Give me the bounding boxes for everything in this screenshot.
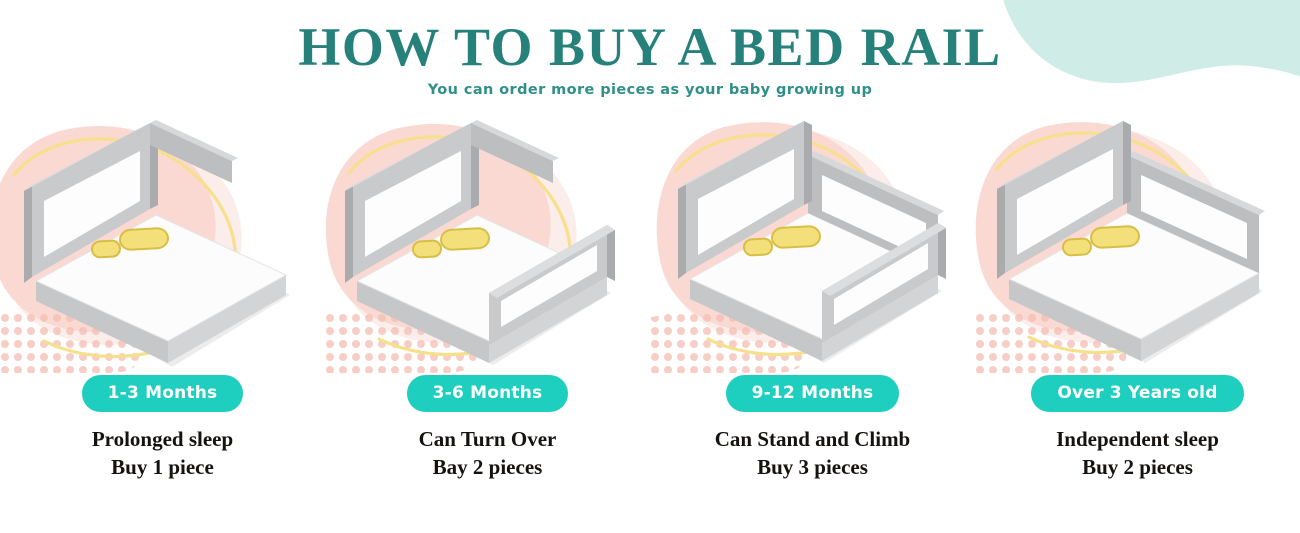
caption-line-2: Buy 2 pieces bbox=[1056, 454, 1219, 482]
illustration-bed-rail-2-side-pieces bbox=[975, 105, 1300, 373]
caption-line-2: Bay 2 pieces bbox=[419, 454, 557, 482]
caption-line-1: Independent sleep bbox=[1056, 427, 1219, 451]
card-caption: Can Stand and Climb Buy 3 pieces bbox=[715, 426, 911, 481]
card-1-3-months[interactable]: 1-3 Months Prolonged sleep Buy 1 piece bbox=[0, 105, 325, 505]
card-caption: Can Turn Over Bay 2 pieces bbox=[419, 426, 557, 481]
caption-line-1: Can Stand and Climb bbox=[715, 427, 911, 451]
caption-line-1: Can Turn Over bbox=[419, 427, 557, 451]
illustration-bed-rail-3-pieces bbox=[650, 105, 975, 373]
cards-row: 1-3 Months Prolonged sleep Buy 1 piece bbox=[0, 105, 1300, 505]
illustration-bed-rail-1-piece bbox=[0, 105, 325, 373]
caption-line-2: Buy 3 pieces bbox=[715, 454, 911, 482]
badge-age-range[interactable]: 3-6 Months bbox=[407, 375, 569, 412]
badge-age-range[interactable]: Over 3 Years old bbox=[1031, 375, 1243, 412]
card-3-6-months[interactable]: 3-6 Months Can Turn Over Bay 2 pieces bbox=[325, 105, 650, 505]
page-title: HOW TO BUY A BED RAIL bbox=[0, 0, 1300, 74]
infographic-canvas: HOW TO BUY A BED RAIL You can order more… bbox=[0, 0, 1300, 533]
caption-line-2: Buy 1 piece bbox=[92, 454, 233, 482]
page-subtitle: You can order more pieces as your baby g… bbox=[0, 74, 1300, 98]
page-header: HOW TO BUY A BED RAIL You can order more… bbox=[0, 0, 1300, 98]
card-9-12-months[interactable]: 9-12 Months Can Stand and Climb Buy 3 pi… bbox=[650, 105, 975, 505]
card-over-3-years-old[interactable]: Over 3 Years old Independent sleep Buy 2… bbox=[975, 105, 1300, 505]
card-caption: Prolonged sleep Buy 1 piece bbox=[92, 426, 233, 481]
badge-age-range[interactable]: 1-3 Months bbox=[82, 375, 244, 412]
card-caption: Independent sleep Buy 2 pieces bbox=[1056, 426, 1219, 481]
badge-age-range[interactable]: 9-12 Months bbox=[726, 375, 900, 412]
caption-line-1: Prolonged sleep bbox=[92, 427, 233, 451]
illustration-bed-rail-2-pieces bbox=[325, 105, 650, 373]
